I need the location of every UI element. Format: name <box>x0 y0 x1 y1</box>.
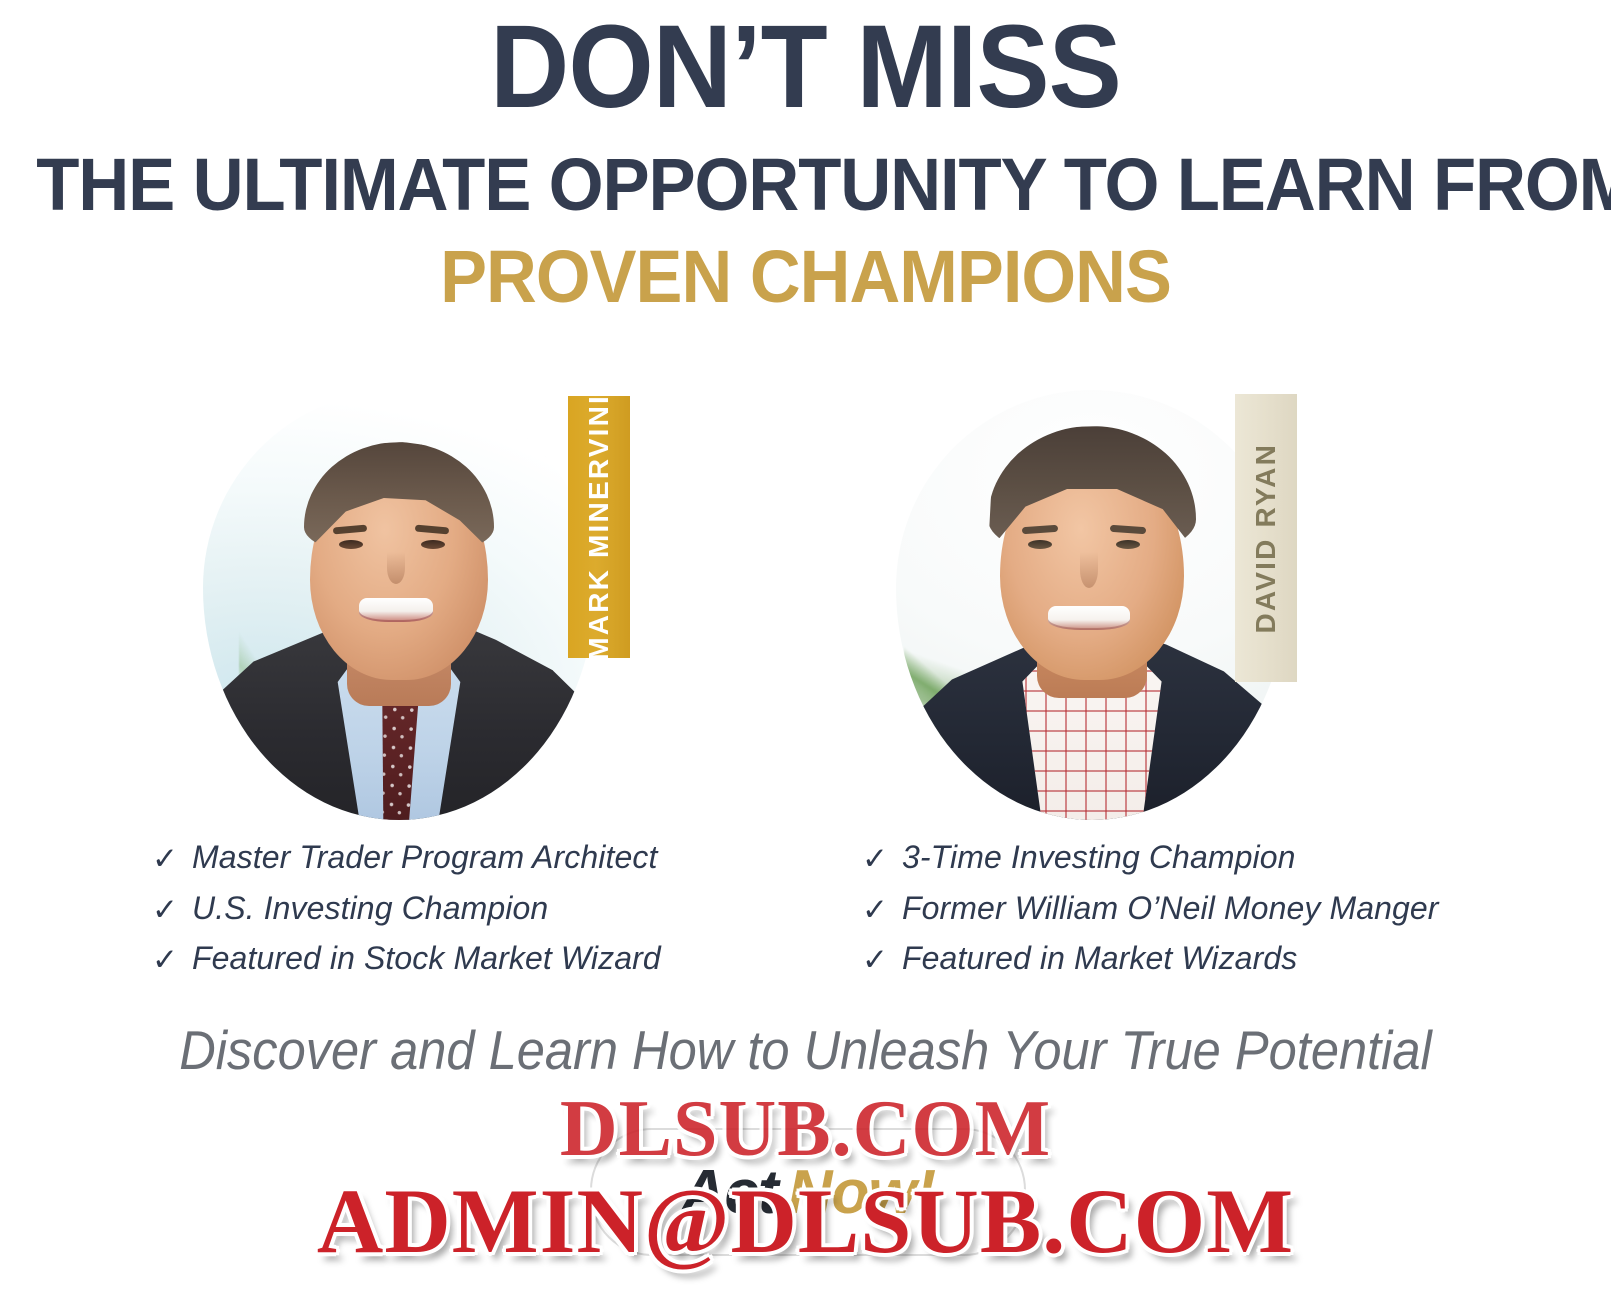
portrait-photo-mark-minervini <box>203 390 595 820</box>
list-item-label: Featured in Market Wizards <box>902 941 1297 976</box>
headline-line-1: DON’T MISS <box>56 8 1554 126</box>
list-item-label: Featured in Stock Market Wizard <box>192 941 661 976</box>
tagline: Discover and Learn How to Unleash Your T… <box>64 1018 1546 1082</box>
name-banner-mark-minervini: MARK MINERVINI <box>568 396 630 658</box>
champion-card-david-ryan: DAVID RYAN <box>878 382 1348 827</box>
list-item-label: Former William O’Neil Money Manger <box>902 891 1439 926</box>
name-banner-david-ryan: DAVID RYAN <box>1235 394 1297 682</box>
watermark-site: DLSUB.COM <box>0 1084 1611 1175</box>
photo-canvas <box>896 390 1288 820</box>
photo-canvas <box>203 390 595 820</box>
portrait-wrapper <box>203 390 595 820</box>
check-icon: ✓ <box>862 894 902 925</box>
check-icon: ✓ <box>152 843 192 874</box>
eye-left <box>339 540 363 549</box>
nose <box>387 552 405 584</box>
portrait-photo-david-ryan <box>896 390 1288 820</box>
list-item: ✓ Former William O’Neil Money Manger <box>862 891 1439 926</box>
check-icon: ✓ <box>152 944 192 975</box>
list-item-label: 3-Time Investing Champion <box>902 840 1296 875</box>
headline-line-2: THE ULTIMATE OPPORTUNITY TO LEARN FROM T… <box>36 148 1575 222</box>
list-item: ✓ U.S. Investing Champion <box>152 891 661 926</box>
portrait-wrapper <box>896 390 1288 820</box>
watermark-email: ADMIN@DLSUB.COM <box>0 1168 1611 1274</box>
list-item-label: U.S. Investing Champion <box>192 891 548 926</box>
eye-right <box>1116 540 1140 549</box>
headline-line-3: PROVEN CHAMPIONS <box>40 240 1570 314</box>
check-icon: ✓ <box>862 944 902 975</box>
eye-left <box>1028 540 1052 549</box>
list-item: ✓ Featured in Stock Market Wizard <box>152 941 661 976</box>
list-item: ✓ Featured in Market Wizards <box>862 941 1439 976</box>
list-item-label: Master Trader Program Architect <box>192 840 657 875</box>
smile <box>1048 606 1130 630</box>
name-banner-label: MARK MINERVINI <box>585 394 613 661</box>
champion-card-mark-minervini: MARK MINERVINI <box>185 382 655 827</box>
list-item: ✓ Master Trader Program Architect <box>152 840 661 875</box>
credentials-list-david-ryan: ✓ 3-Time Investing Champion ✓ Former Wil… <box>862 840 1439 992</box>
headline-block: DON’T MISS THE ULTIMATE OPPORTUNITY TO L… <box>0 0 1611 314</box>
name-banner-label: DAVID RYAN <box>1252 443 1280 634</box>
check-icon: ✓ <box>152 894 192 925</box>
smile <box>359 598 433 622</box>
list-item: ✓ 3-Time Investing Champion <box>862 840 1439 875</box>
credentials-list-mark-minervini: ✓ Master Trader Program Architect ✓ U.S.… <box>152 840 661 992</box>
check-icon: ✓ <box>862 843 902 874</box>
nose <box>1080 552 1098 588</box>
eye-right <box>421 540 445 549</box>
